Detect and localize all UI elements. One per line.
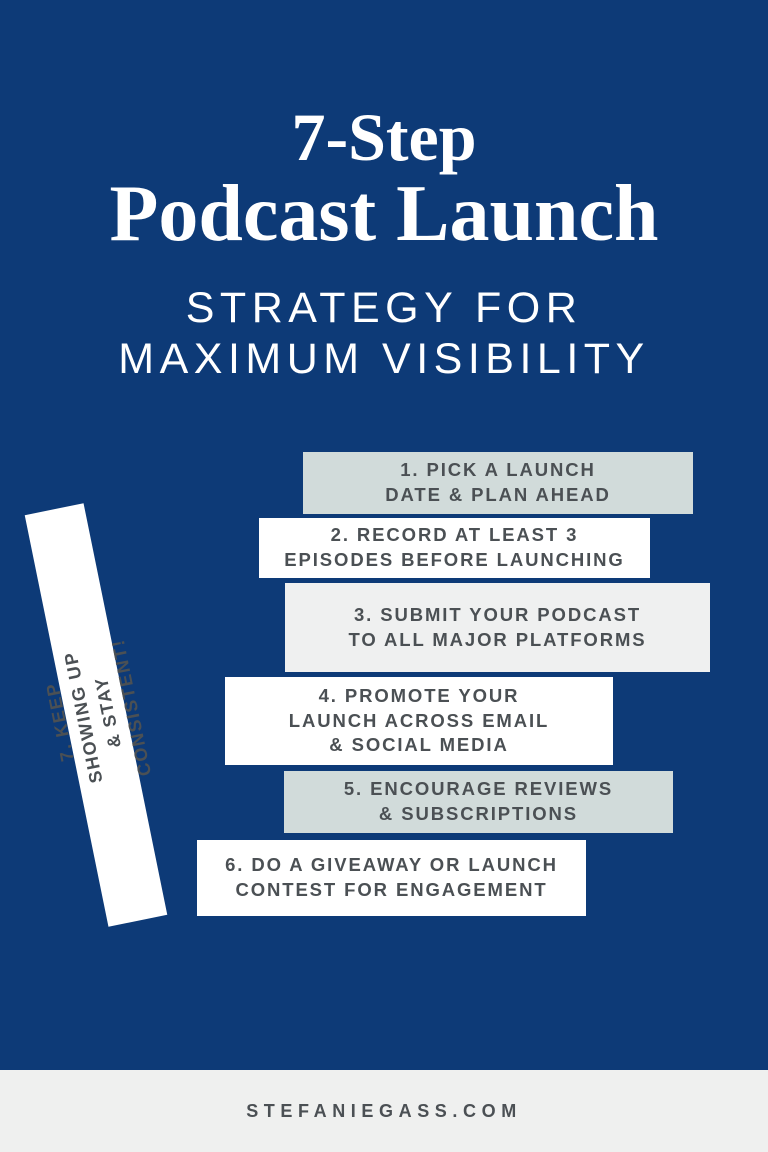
step-label-4: 4. PROMOTE YOUR LAUNCH ACROSS EMAIL & SO… — [289, 684, 550, 758]
step-label-5: 5. ENCOURAGE REVIEWS & SUBSCRIPTIONS — [344, 777, 613, 826]
step-label-7: 7. KEEP SHOWING UP & STAY CONSISTENT! — [34, 637, 157, 793]
step-bar-1: 1. PICK A LAUNCH DATE & PLAN AHEAD — [303, 452, 693, 514]
steps-list: 1. PICK A LAUNCH DATE & PLAN AHEAD 2. RE… — [0, 0, 768, 1070]
step-bar-4: 4. PROMOTE YOUR LAUNCH ACROSS EMAIL & SO… — [225, 677, 613, 765]
step-bar-6: 6. DO A GIVEAWAY OR LAUNCH CONTEST FOR E… — [197, 840, 586, 916]
footer-website: STEFANIEGASS.COM — [246, 1101, 522, 1122]
step-bar-2: 2. RECORD AT LEAST 3 EPISODES BEFORE LAU… — [259, 518, 650, 578]
step-bar-7: 7. KEEP SHOWING UP & STAY CONSISTENT! — [25, 503, 168, 927]
step-label-6: 6. DO A GIVEAWAY OR LAUNCH CONTEST FOR E… — [225, 853, 558, 902]
step-bar-5: 5. ENCOURAGE REVIEWS & SUBSCRIPTIONS — [284, 771, 673, 833]
step-bar-7-wrapper: 7. KEEP SHOWING UP & STAY CONSISTENT! — [25, 503, 168, 927]
infographic-poster: 7-Step Podcast Launch STRATEGY FOR MAXIM… — [0, 0, 768, 1152]
step-label-1: 1. PICK A LAUNCH DATE & PLAN AHEAD — [385, 458, 611, 507]
step-label-3: 3. SUBMIT YOUR PODCAST TO ALL MAJOR PLAT… — [348, 603, 646, 652]
footer-band: STEFANIEGASS.COM — [0, 1070, 768, 1152]
step-label-2: 2. RECORD AT LEAST 3 EPISODES BEFORE LAU… — [284, 523, 624, 572]
step-bar-3: 3. SUBMIT YOUR PODCAST TO ALL MAJOR PLAT… — [285, 583, 710, 672]
